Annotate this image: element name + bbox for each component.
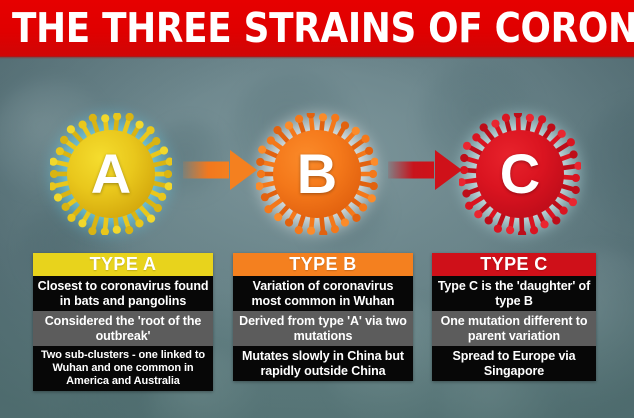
card-fact: Two sub-clusters - one linked to Wuhan a… [33,346,213,391]
title-underline [0,56,634,59]
virus-particle-a: A [47,110,175,238]
card-fact: Closest to coronavirus found in bats and… [33,276,213,311]
strain-card-type-a: TYPE A Closest to coronavirus found in b… [33,253,213,391]
arrow-b-to-c-icon [388,150,462,190]
title-banner: THE THREE STRAINS OF CORONAVIRUS [0,0,634,57]
page-title: THE THREE STRAINS OF CORONAVIRUS [12,3,634,53]
card-fact: Type C is the 'daughter' of type B [432,276,596,311]
virus-label-a: A [47,110,175,238]
virus-particle-c: C [456,110,584,238]
card-fact: One mutation different to parent variati… [432,311,596,346]
arrow-head [230,150,257,190]
card-header-type-c: TYPE C [432,253,596,276]
virus-particle-b: B [253,110,381,238]
arrow-shaft [183,162,229,179]
infographic-root: THE THREE STRAINS OF CORONAVIRUS A B C T… [0,0,634,418]
strain-card-type-b: TYPE B Variation of coronavirus most com… [233,253,413,381]
card-fact: Variation of coronavirus most common in … [233,276,413,311]
virus-label-b: B [253,110,381,238]
card-fact: Derived from type 'A' via two mutations [233,311,413,346]
virus-label-c: C [456,110,584,238]
card-header-type-b: TYPE B [233,253,413,276]
arrow-a-to-b-icon [183,150,257,190]
card-fact: Considered the 'root of the outbreak' [33,311,213,346]
card-fact: Mutates slowly in China but rapidly outs… [233,346,413,381]
strain-card-type-c: TYPE C Type C is the 'daughter' of type … [432,253,596,381]
card-header-type-a: TYPE A [33,253,213,276]
arrow-shaft [388,162,434,179]
card-fact: Spread to Europe via Singapore [432,346,596,381]
arrow-head [435,150,462,190]
